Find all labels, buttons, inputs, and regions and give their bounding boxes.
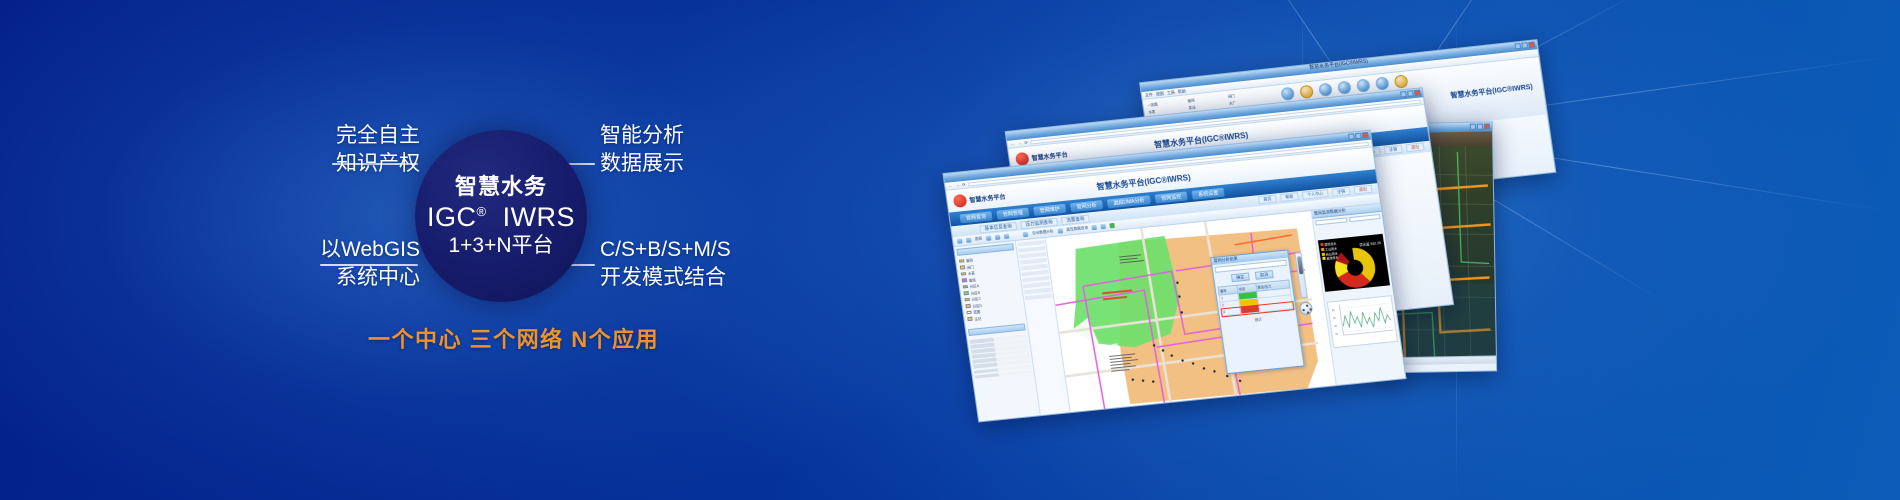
ribbon-icon[interactable] bbox=[1375, 76, 1390, 90]
nav-item[interactable]: 管网监控 bbox=[1155, 191, 1188, 203]
svg-text:20: 20 bbox=[1335, 333, 1339, 336]
logo-text: 智慧水务平台 bbox=[969, 191, 1006, 204]
feature-bottom-right-line2: 开发模式结合 bbox=[600, 264, 731, 292]
layer-tree[interactable]: 管网 阀门 水表 管线 分区A 分区B 分区C 分区D 底图 注记 bbox=[957, 251, 1024, 325]
quick-link[interactable]: 退出 bbox=[1353, 185, 1372, 195]
registered-icon: ® bbox=[476, 204, 486, 219]
ribbon-icon[interactable] bbox=[1356, 78, 1371, 92]
dialog-ok-button[interactable]: 确定 bbox=[1231, 273, 1250, 283]
line-chart[interactable]: 80604020 bbox=[1327, 295, 1398, 348]
nav-item[interactable]: 系统设置 bbox=[1192, 187, 1225, 199]
sub-nav-item[interactable]: 基本信息查询 bbox=[979, 221, 1017, 233]
dialog-table[interactable]: 编号 状态 管径/压力 1 2 3 bbox=[1217, 279, 1293, 316]
feature-bottom-right-line1: C/S+B/S+M/S bbox=[600, 236, 731, 264]
donut-legend: 居民用水 工业用水 商业用水 其他用水 bbox=[1320, 242, 1339, 263]
feature-top-left: 完全自主 知识产权 bbox=[300, 122, 420, 179]
ribbon-icon[interactable] bbox=[1337, 81, 1352, 95]
quick-link[interactable]: 退出 bbox=[1406, 142, 1425, 152]
feature-bottom-left-line1: 以WebGIS bbox=[288, 236, 420, 264]
app-title: 智慧水务平台(IGC®IWRS) bbox=[1096, 172, 1192, 192]
quick-link[interactable]: 注销 bbox=[1384, 145, 1403, 155]
quick-link[interactable]: 注销 bbox=[1332, 187, 1351, 197]
ribbon-icon[interactable] bbox=[1299, 85, 1314, 99]
analysis-dialog[interactable]: 管网分析结果 确定 取消 编号 状态 管径/压力 bbox=[1210, 249, 1304, 374]
dialog-cancel-button[interactable]: 取消 bbox=[1255, 270, 1274, 280]
ribbon-icon[interactable] bbox=[1394, 74, 1409, 88]
donut-chart[interactable]: 居民用水 工业用水 商业用水 其他用水 供水量 532.25 bbox=[1318, 234, 1390, 292]
sub-nav-item[interactable]: 压力监测查询 bbox=[1020, 217, 1058, 229]
nav-item[interactable]: 管网查询 bbox=[959, 211, 992, 223]
sub-nav-item[interactable]: 流量查询 bbox=[1061, 214, 1090, 225]
nav-item[interactable]: 管网分析 bbox=[1070, 200, 1103, 212]
concept-diagram: 智慧水务 IGC® IWRS 1+3+N平台 完全自主 知识产权 以WebGIS… bbox=[0, 0, 820, 500]
circle-platform: 1+3+N平台 bbox=[448, 234, 553, 258]
window-controls[interactable] bbox=[1514, 41, 1535, 49]
quick-link[interactable]: 帮助 bbox=[1280, 192, 1299, 202]
feature-top-right: 智能分析 数据展示 bbox=[600, 122, 684, 179]
gis-map-canvas[interactable]: 管网分析结果 确定 取消 编号 状态 管径/压力 bbox=[1046, 211, 1336, 414]
circle-product-prefix: IGC bbox=[427, 202, 477, 232]
svg-text:80: 80 bbox=[1332, 309, 1336, 312]
water-drop-logo-icon bbox=[953, 193, 968, 207]
feature-top-left-line1: 完全自主 bbox=[300, 122, 420, 150]
feature-bottom-right: C/S+B/S+M/S 开发模式结合 bbox=[600, 236, 731, 293]
circle-product-suffix: IWRS bbox=[503, 202, 576, 232]
svg-text:40: 40 bbox=[1334, 325, 1338, 328]
quick-link[interactable]: 首页 bbox=[1258, 194, 1277, 204]
circle-product: IGC® IWRS bbox=[427, 202, 575, 233]
nav-item[interactable]: 管网管理 bbox=[996, 207, 1029, 219]
feature-top-right-line1: 智能分析 bbox=[600, 122, 684, 150]
feature-top-left-line2: 知识产权 bbox=[300, 150, 420, 178]
window-controls[interactable] bbox=[1470, 123, 1490, 129]
tagline: 一个中心 三个网络 N个应用 bbox=[368, 322, 659, 354]
back-window-app-title: 智慧水务平台(IGC®IWRS) bbox=[1450, 81, 1540, 100]
circle-title: 智慧水务 bbox=[455, 174, 547, 199]
feature-top-right-line2: 数据展示 bbox=[600, 150, 684, 178]
quick-link[interactable]: 个人中心 bbox=[1302, 189, 1329, 200]
property-list bbox=[969, 334, 1031, 379]
window-controls[interactable] bbox=[1348, 132, 1369, 140]
nav-item[interactable]: 管网维护 bbox=[1033, 203, 1066, 215]
window-controls[interactable] bbox=[1400, 90, 1421, 98]
banner-stage: 智慧水务 IGC® IWRS 1+3+N平台 完全自主 知识产权 以WebGIS… bbox=[0, 0, 1900, 500]
feature-bottom-left-line2: 系统中心 bbox=[288, 264, 420, 292]
ribbon-icon[interactable] bbox=[1318, 83, 1333, 97]
front-window[interactable]: ←→⟳ 智慧水务平台 智慧水务平台(IGC®IWRS) 管网查询 管网管理 管网… bbox=[942, 130, 1407, 431]
feature-bottom-left: 以WebGIS 系统中心 bbox=[288, 236, 420, 293]
svg-text:60: 60 bbox=[1333, 317, 1337, 320]
center-circle: 智慧水务 IGC® IWRS 1+3+N平台 bbox=[415, 130, 587, 302]
ribbon-icon[interactable] bbox=[1280, 87, 1295, 101]
donut-title: 供水量 532.25 bbox=[1359, 240, 1381, 247]
